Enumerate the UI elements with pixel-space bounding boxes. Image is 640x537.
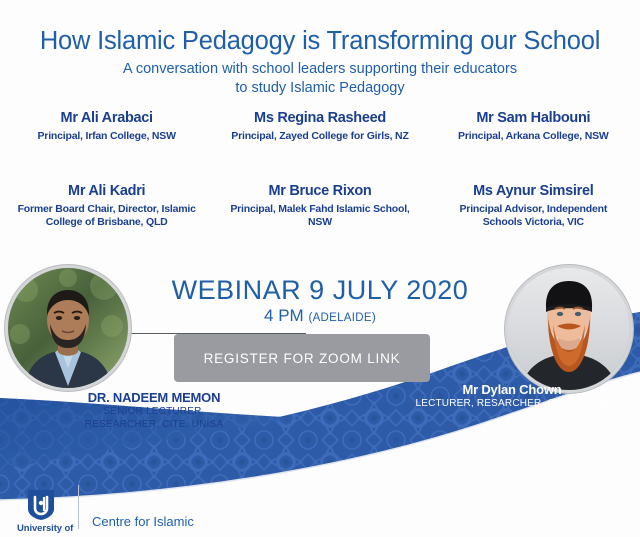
speaker-card: Mr Bruce Rixon Principal, Malek Fahd Isl… [213, 183, 426, 229]
webinar-timezone: (ADELAIDE) [308, 312, 376, 324]
speaker-role: Principal, Malek Fahd Islamic School, NS… [227, 203, 412, 229]
speaker-name: Mr Ali Kadri [14, 183, 199, 200]
page-subtitle: A conversation with school leaders suppo… [0, 60, 640, 98]
university-label: University of [17, 523, 73, 534]
host-role-line-1: LECTURER, RESARCHER, CITE, UNISA [392, 398, 632, 410]
page-title: How Islamic Pedagogy is Transforming our… [0, 27, 640, 56]
speaker-role: Principal, Zayed College for Girls, NZ [227, 130, 412, 143]
speaker-name: Ms Aynur Simsirel [441, 183, 626, 200]
host-caption-left: DR. NADEEM MEMON SENIOR LECTURER, RESEAR… [24, 390, 284, 430]
webinar-time-value: 4 PM [264, 306, 304, 325]
unisa-shield-icon [24, 487, 58, 521]
speaker-name: Ms Regina Rasheed [227, 110, 412, 127]
host-role-line-1: SENIOR LECTURER, [24, 406, 284, 418]
register-for-zoom-link-button[interactable]: REGISTER FOR ZOOM LINK [174, 334, 430, 382]
avatar-nadeem-memon [8, 268, 128, 388]
speaker-card: Mr Sam Halbouni Principal, Arkana Colleg… [427, 110, 640, 143]
speaker-card: Ms Aynur Simsirel Principal Advisor, Ind… [427, 183, 640, 229]
subtitle-line-2: to study Islamic Pedagogy [0, 79, 640, 98]
speaker-role: Principal, Irfan College, NSW [14, 130, 199, 143]
speaker-role: Principal, Arkana College, NSW [441, 130, 626, 143]
host-name: Mr Dylan Chown [392, 382, 632, 397]
avatar-dylan-chown [508, 268, 630, 390]
speaker-role: Principal Advisor, Independent Schools V… [441, 203, 626, 229]
speaker-row-2: Mr Ali Kadri Former Board Chair, Directo… [0, 183, 640, 229]
speaker-name: Mr Sam Halbouni [441, 110, 626, 127]
logo-divider [78, 485, 79, 529]
speaker-card: Mr Ali Kadri Former Board Chair, Directo… [0, 183, 213, 229]
speaker-name: Mr Bruce Rixon [227, 183, 412, 200]
subtitle-line-1: A conversation with school leaders suppo… [0, 60, 640, 79]
host-caption-right: Mr Dylan Chown LECTURER, RESARCHER, CITE… [392, 382, 632, 410]
host-role-line-2: RESEARCHER, CITE, UNISA [24, 419, 284, 431]
centre-label: Centre for Islamic [92, 514, 194, 529]
speaker-card: Ms Regina Rasheed Principal, Zayed Colle… [213, 110, 426, 143]
webinar-poster: How Islamic Pedagogy is Transforming our… [0, 0, 640, 537]
speaker-card: Mr Ali Arabaci Principal, Irfan College,… [0, 110, 213, 143]
speaker-name: Mr Ali Arabaci [14, 110, 199, 127]
speaker-role: Former Board Chair, Director, Islamic Co… [14, 203, 199, 229]
speaker-row-1: Mr Ali Arabaci Principal, Irfan College,… [0, 110, 640, 143]
host-name: DR. NADEEM MEMON [24, 390, 284, 405]
footer-logos: University of Centre for Islamic [0, 479, 640, 537]
